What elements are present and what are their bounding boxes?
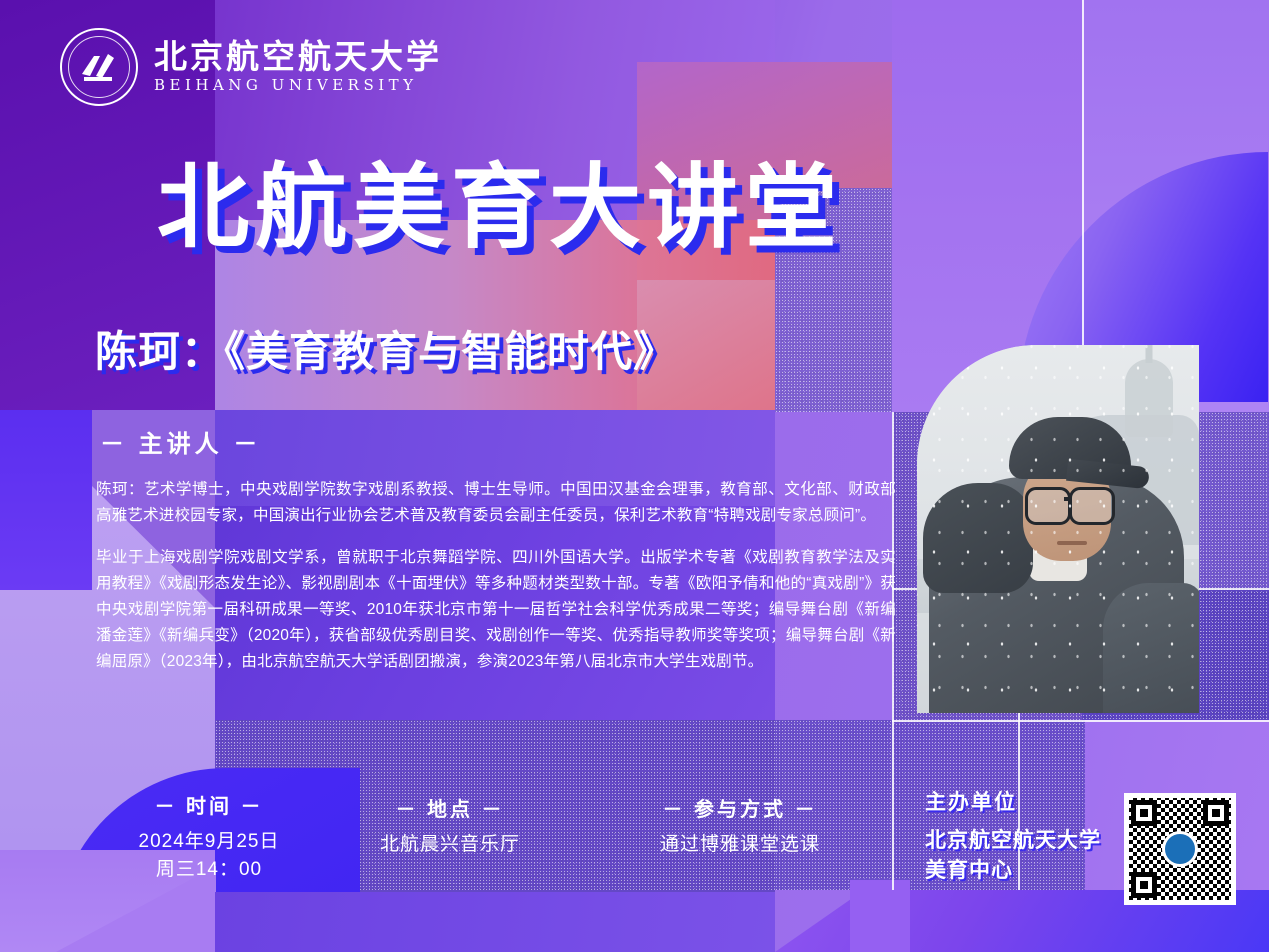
speaker-portrait <box>917 345 1199 713</box>
speaker-section-label: － 主讲人 － <box>100 424 261 459</box>
sub-title: 陈珂：《美育教育与智能时代》 <box>95 318 855 379</box>
organizer-department: 美育中心 <box>925 856 1115 886</box>
info-join: － 参与方式 － 通过博雅课堂选课 <box>575 793 905 859</box>
info-place-heading: － 地点 － <box>300 793 600 822</box>
poster-canvas: 北京航空航天大学 BEIHANG UNIVERSITY 北航美育大讲堂 陈珂：《… <box>0 0 1269 952</box>
qr-finder-top-right <box>1203 800 1229 826</box>
organizer-name: 北京航空航天大学 <box>925 826 1115 856</box>
organizer-block: 主办单位 北京航空航天大学 美育中心 <box>925 786 1115 886</box>
seal-emblem-icon <box>80 50 118 84</box>
info-join-method: 通过博雅课堂选课 <box>575 831 905 859</box>
university-name-en: BEIHANG UNIVERSITY <box>154 76 442 94</box>
qr-pattern <box>1129 798 1231 900</box>
university-seal-icon <box>60 28 138 106</box>
info-place: － 地点 － 北航晨兴音乐厅 <box>300 793 600 859</box>
grid-line-horizontal-2 <box>892 720 1269 722</box>
qr-finder-bottom-left <box>1131 872 1157 898</box>
qr-code-icon[interactable] <box>1124 793 1236 905</box>
speaker-bio: 陈珂：艺术学博士，中央戏剧学院数字戏剧系教授、博士生导师。中国田汉基金会理事，教… <box>96 477 896 691</box>
info-time-clock: 周三14：00 <box>78 856 340 884</box>
bio-paragraph-1: 陈珂：艺术学博士，中央戏剧学院数字戏剧系教授、博士生导师。中国田汉基金会理事，教… <box>96 477 896 529</box>
main-title: 北航美育大讲堂 <box>0 158 1000 257</box>
university-name-cn: 北京航空航天大学 <box>154 40 442 73</box>
info-place-venue: 北航晨兴音乐厅 <box>300 831 600 859</box>
bio-paragraph-2: 毕业于上海戏剧学院戏剧文学系，曾就职于北京舞蹈学院、四川外国语大学。出版学术专著… <box>96 545 896 675</box>
background-block-left-blue <box>0 410 92 590</box>
organizer-heading: 主办单位 <box>925 786 1115 816</box>
background-block-bottom-right-lavender <box>850 880 910 952</box>
university-logo: 北京航空航天大学 BEIHANG UNIVERSITY <box>60 26 480 108</box>
qr-finder-top-left <box>1131 800 1157 826</box>
portrait-snowfall <box>917 345 1199 713</box>
background-strip-bottom <box>215 892 775 952</box>
info-join-heading: － 参与方式 － <box>575 793 905 822</box>
wechat-account-logo-icon <box>1162 831 1198 867</box>
